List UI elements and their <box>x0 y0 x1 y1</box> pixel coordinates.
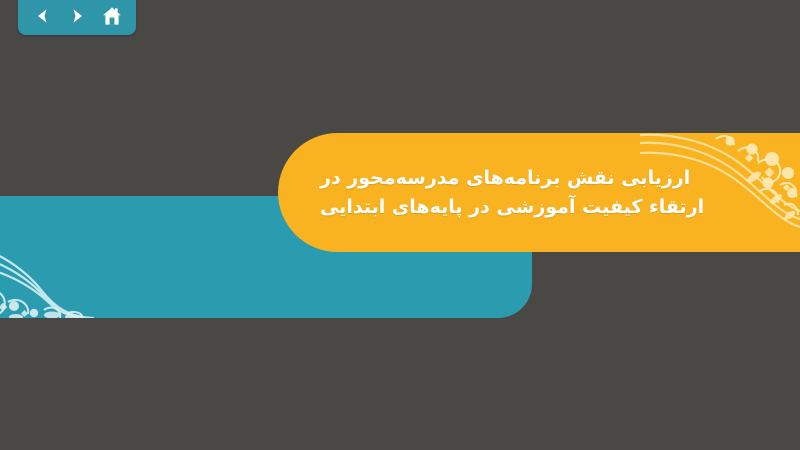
home-button[interactable] <box>98 3 126 29</box>
home-icon <box>101 6 123 27</box>
title-line-2: ارتقاء کیفیت آموزشی در پایه‌های ابتدایی <box>320 193 704 222</box>
arabesque-corner-ornament-mirrored <box>0 196 160 318</box>
triangle-right-icon <box>67 6 87 26</box>
triangle-left-icon <box>32 6 52 26</box>
title-banner: ارزیابی نقش برنامه‌های مدرسه‌محور در ارت… <box>278 133 800 252</box>
back-button[interactable] <box>28 3 56 29</box>
slide-canvas: ارزیابی نقش برنامه‌های مدرسه‌محور در ارت… <box>0 0 800 450</box>
forward-button[interactable] <box>63 3 91 29</box>
banner-title: ارزیابی نقش برنامه‌های مدرسه‌محور در ارت… <box>320 133 650 252</box>
title-line-1: ارزیابی نقش برنامه‌های مدرسه‌محور در <box>320 164 690 193</box>
navigation-toolbar <box>18 0 136 35</box>
